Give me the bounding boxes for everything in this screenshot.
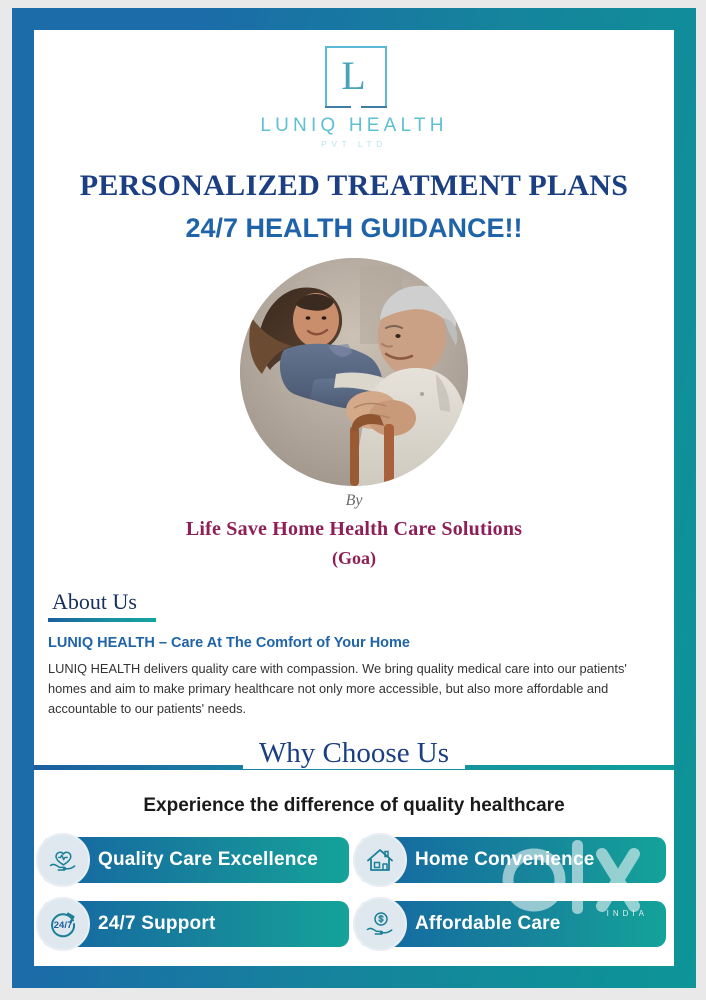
credit-by-label: By	[34, 492, 674, 510]
logo-wordmark: LUNIQ HEALTH	[34, 115, 674, 137]
credit-city: (Goa)	[34, 548, 674, 569]
credit-company-name: Life Save Home Health Care Solutions	[34, 518, 674, 541]
feature-pill-grid: Quality Care Excellence Home Convenience	[34, 837, 674, 947]
poster-outer-frame: L LUNIQ HEALTH PVT LTD PERSONALIZED TREA…	[12, 8, 696, 988]
headline-primary: PERSONALIZED TREATMENT PLANS	[34, 169, 674, 203]
about-body-text: LUNIQ HEALTH delivers quality care with …	[48, 659, 632, 718]
feature-pill-home-convenience[interactable]: Home Convenience	[359, 837, 666, 883]
olx-watermark-region: INDIA	[607, 909, 648, 918]
feature-pill-24-7-support[interactable]: 24/7 24/7 Support	[42, 901, 349, 947]
feature-pill-label: Quality Care Excellence	[98, 849, 318, 871]
hero-photo	[240, 258, 468, 486]
hand-heart-icon	[36, 833, 90, 887]
hand-dollar-icon	[353, 897, 407, 951]
poster-card: L LUNIQ HEALTH PVT LTD PERSONALIZED TREA…	[34, 30, 674, 966]
logo-subword: PVT LTD	[34, 139, 674, 149]
feature-pill-label: 24/7 Support	[98, 913, 215, 935]
about-heading: About Us	[48, 589, 143, 617]
feature-pill-label: Home Convenience	[415, 849, 595, 871]
about-heading-underline	[48, 618, 156, 622]
logo-letter: L	[311, 56, 397, 96]
why-choose-us-title-text: Why Choose Us	[243, 737, 465, 769]
svg-text:24/7: 24/7	[54, 920, 73, 931]
about-subheading: LUNIQ HEALTH – Care At The Comfort of Yo…	[48, 635, 660, 651]
headline-secondary: 24/7 HEALTH GUIDANCE!!	[34, 213, 674, 244]
clock-247-icon: 24/7	[36, 897, 90, 951]
why-choose-us-band: Why Choose Us	[34, 737, 674, 781]
why-choose-us-title: Why Choose Us	[34, 737, 674, 770]
hero-photo-illustration	[240, 258, 468, 486]
feature-pill-label: Affordable Care	[415, 913, 561, 935]
why-choose-us-subtitle: Experience the difference of quality hea…	[34, 795, 674, 817]
logo-bracket-icon: L	[311, 44, 397, 112]
feature-pill-quality-care[interactable]: Quality Care Excellence	[42, 837, 349, 883]
brand-logo: L LUNIQ HEALTH PVT LTD	[34, 44, 674, 149]
house-icon	[353, 833, 407, 887]
about-section: About Us LUNIQ HEALTH – Care At The Comf…	[34, 589, 674, 718]
